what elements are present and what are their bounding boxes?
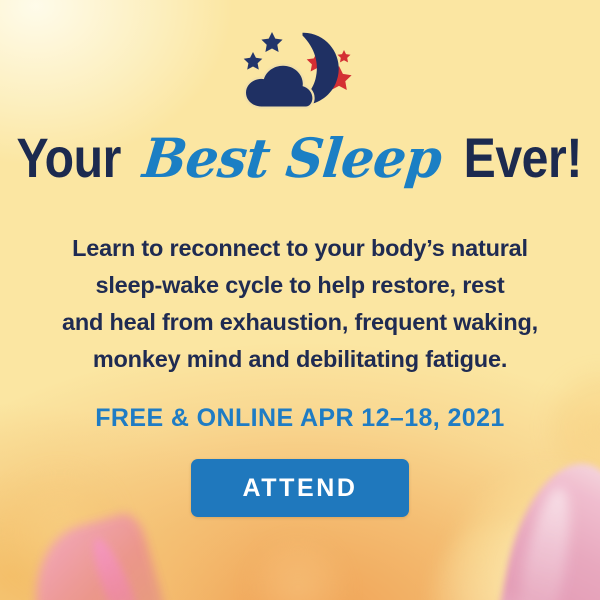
navy-star-icon xyxy=(261,32,282,52)
cta-container: ATTEND xyxy=(191,459,409,517)
description-text: Learn to reconnect to your body’s natura… xyxy=(20,230,580,378)
headline-script-text: Best Sleep xyxy=(140,131,443,185)
moon-cloud-stars-icon xyxy=(240,28,360,112)
description-line: monkey mind and debilitating fatigue. xyxy=(20,341,580,378)
headline-word-your: Your xyxy=(17,130,121,186)
headline-word-ever: Ever! xyxy=(464,130,582,186)
navy-star-icon xyxy=(244,52,263,70)
description-line: Learn to reconnect to your body’s natura… xyxy=(20,230,580,267)
poster-content: Your Best Sleep Ever! Learn to reconnect… xyxy=(0,0,600,600)
cloud-icon xyxy=(246,66,312,107)
event-date-line: FREE & ONLINE APR 12–18, 2021 xyxy=(95,404,504,433)
description-line: sleep-wake cycle to help restore, rest xyxy=(20,267,580,304)
page-title: Your Best Sleep Ever! xyxy=(8,130,591,200)
attend-button[interactable]: ATTEND xyxy=(191,459,409,517)
sleep-summit-promo-poster: Your Best Sleep Ever! Learn to reconnect… xyxy=(0,0,600,600)
red-star-icon xyxy=(338,50,351,62)
description-line: and heal from exhaustion, frequent wakin… xyxy=(20,304,580,341)
